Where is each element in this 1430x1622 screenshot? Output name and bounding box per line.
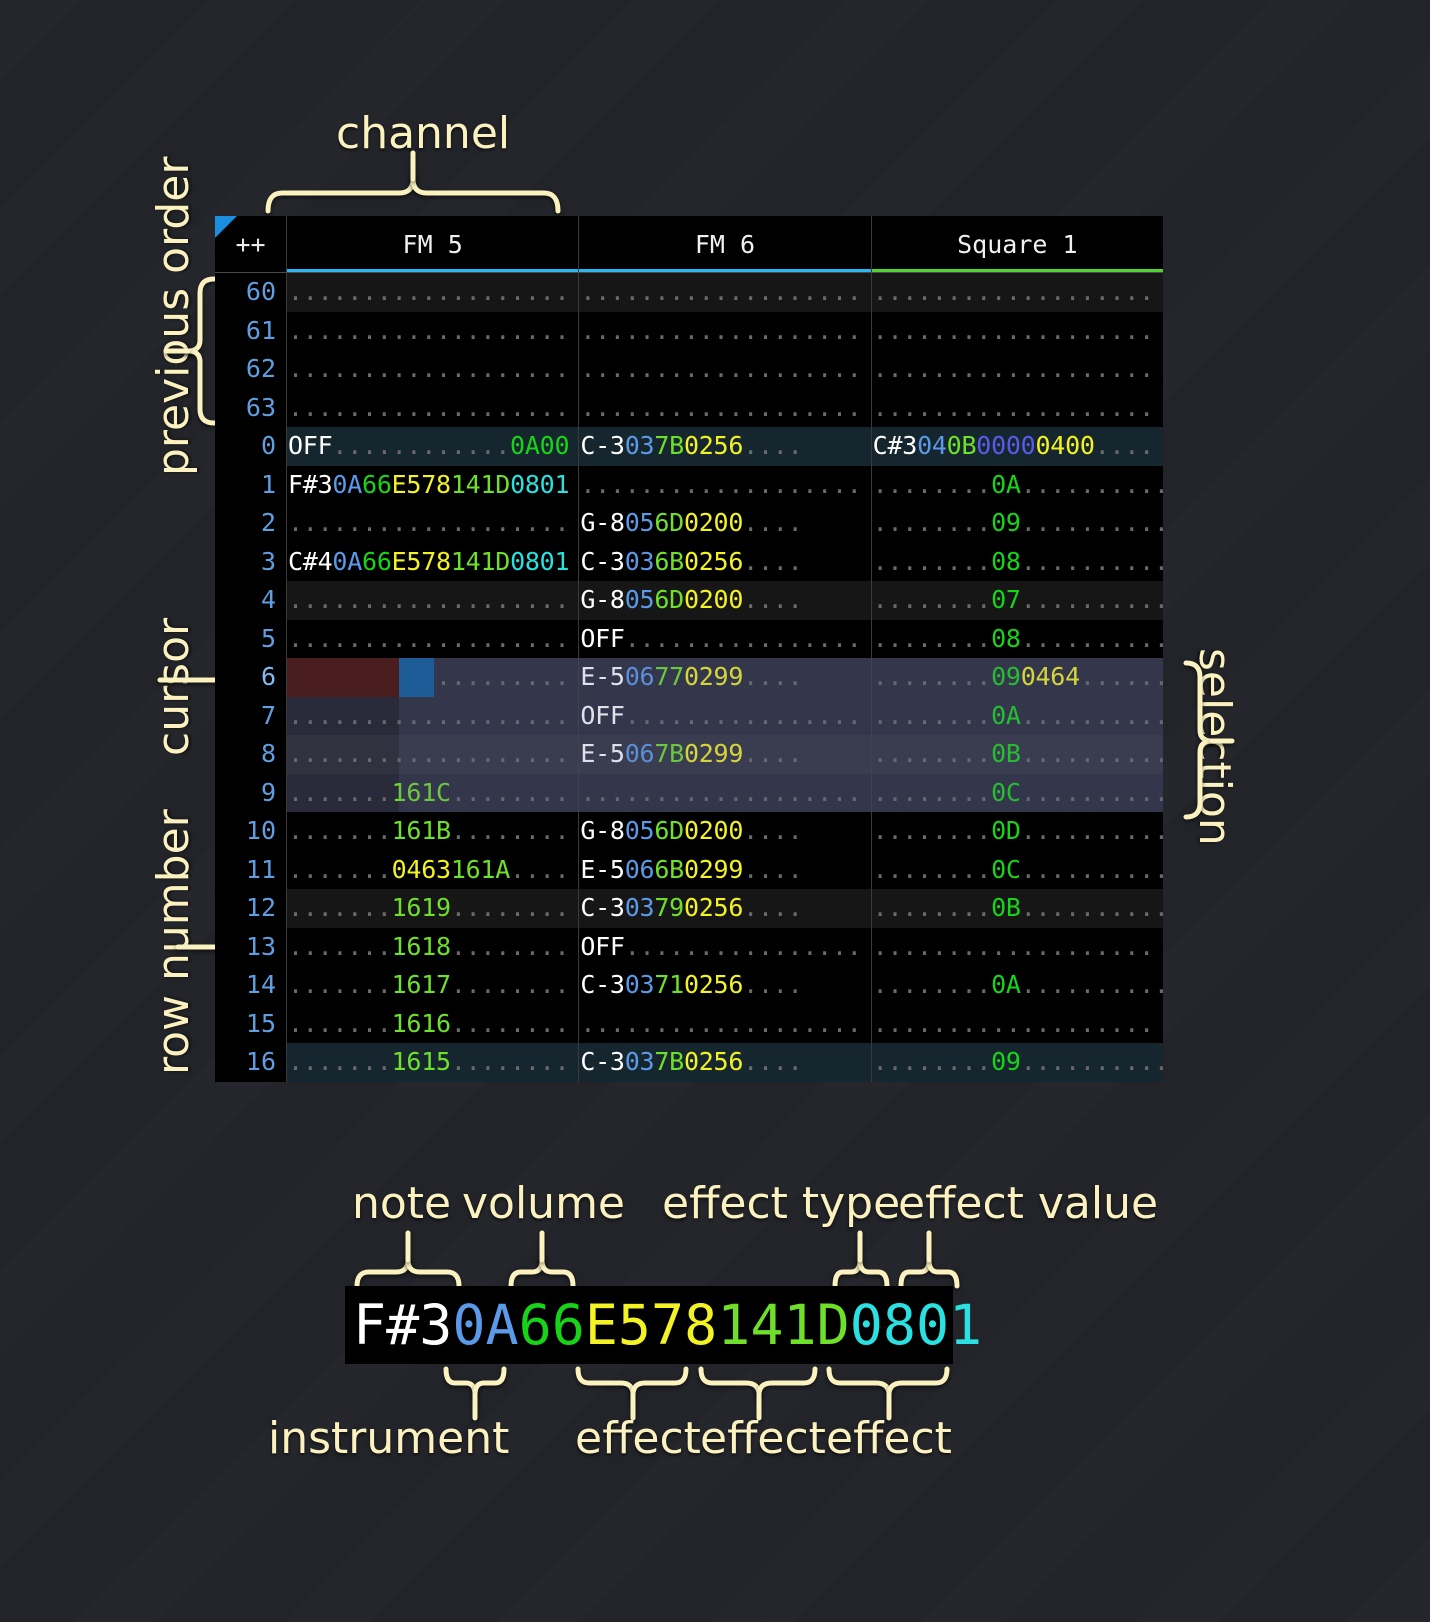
pattern-cell[interactable]: G-8056D0200.... [579,504,871,543]
pattern-row[interactable]: ........................................… [287,273,1163,312]
cell-token-dot: .. [654,701,684,730]
annotation-note: note [352,1178,451,1229]
row-number[interactable]: 7 [215,697,286,736]
cell-token-dot: .... [451,701,510,730]
pattern-cell[interactable]: E-5066B0299.... [579,851,871,890]
cell-token-dot: .... [451,277,510,306]
cell-token-dot: .... [1035,354,1094,383]
cell-token-dot: .... [510,893,569,922]
cell-token-effect_green: 7B [654,1047,684,1076]
cell-token-dot: .... [743,354,802,383]
cell-token-effect_green: 6D [654,508,684,537]
legend-segment-volume: 66 [519,1293,585,1357]
cell-token-dot: .... [510,1047,569,1076]
cell-token-note: C-3 [580,431,624,460]
pattern-row[interactable]: OFF............0A00C-3037B0256....C#3040… [287,427,1163,466]
pattern-cell[interactable]: F#30A66E578141D0801 [287,466,579,505]
pattern-row[interactable]: .......161C.............................… [287,774,1163,813]
cell-token-dot: .... [743,778,802,807]
cell-token-dot: ........ [873,1047,991,1076]
pattern-cell[interactable]: .......1619........ [287,889,579,928]
pattern-cell[interactable]: G-8056D0200.... [579,581,871,620]
pattern-cell-legend: F#30A66E578141D0801 [345,1286,953,1364]
pattern-cell[interactable]: C-3036B0256.... [579,543,871,582]
instrument-brace [443,1366,509,1414]
cell-token-dot: ........... [580,354,743,383]
channel-header-row: ++ FM 5 FM 6 Square 1 [215,216,1163,272]
cell-token-dot: ........ [873,739,991,768]
cell-token-dot: .... [451,585,510,614]
row-number-gutter[interactable]: 60616263012345678910111213141516 [215,272,286,1082]
pattern-cell[interactable]: .......0463161A.... [287,851,579,890]
cell-token-dot: .... [743,393,802,422]
row-number[interactable]: 14 [215,966,286,1005]
cell-token-dot: .... [451,662,510,691]
cell-token-volume: 0C [991,778,1021,807]
pattern-row[interactable]: ...................OFF..................… [287,620,1163,659]
channel-name: FM 5 [403,230,463,259]
cell-token-instrument: 06 [625,739,655,768]
cell-token-dot: ........ [873,624,991,653]
row-number[interactable]: 63 [215,389,286,428]
cell-token-dot: .... [510,932,569,961]
cell-token-dot: .... [510,778,569,807]
pattern-cell[interactable]: C-303710256.... [579,966,871,1005]
pattern-cell[interactable]: E-5067B0299.... [579,735,871,774]
cell-token-note: OFF [288,431,332,460]
row-number[interactable]: 61 [215,312,286,351]
cell-token-dot: ........... [873,277,1036,306]
cell-token-dot: .... [510,316,569,345]
cell-token-effect_green: 161A [451,855,510,884]
pattern-cell[interactable]: ................... [287,697,579,736]
cell-token-effect_yellow: 0200 [684,585,743,614]
cell-token-dot: ........... [873,316,1036,345]
pattern-cell[interactable]: .......161B........ [287,812,579,851]
cell-token-dot: ........... [580,316,743,345]
pattern-cell[interactable]: ........090464...... [872,658,1163,697]
order-indicator[interactable]: ++ [215,216,286,272]
row-number[interactable]: 2 [215,504,286,543]
cell-token-volume: 08 [991,624,1021,653]
pattern-cell[interactable]: ........0A........... [872,697,1163,736]
cell-token-dot: .... [510,701,569,730]
cell-token-dot: .... [510,816,569,845]
pattern-cell[interactable]: ................... [872,350,1163,389]
cell-token-volume: 09 [991,1047,1021,1076]
cell-token-volume: 0A [991,701,1021,730]
cell-token-dot: ........... [288,624,451,653]
row-number[interactable]: 6 [215,658,286,697]
cell-token-effect_yellow: E578 [392,470,451,499]
channel-name: FM 6 [695,230,755,259]
pattern-cell[interactable]: ................... [287,273,579,312]
pattern-cell[interactable]: .......161C........ [287,774,579,813]
cell-token-effect_green: 1617 [392,970,451,999]
cell-token-dot: .... [802,470,861,499]
pattern-cell[interactable]: ........0C........... [872,774,1163,813]
pattern-cell[interactable]: E-506770299.... [579,658,871,697]
pattern-cell[interactable]: OFF................ [579,697,871,736]
cell-token-note: OFF [580,701,624,730]
cell-token-dot: ....... [288,855,392,884]
cell-token-instrument: 0A [332,470,362,499]
cell-token-dot: .... [802,932,861,961]
cell-token-instrument: 03 [625,1047,655,1076]
cell-token-dot: .... [451,624,510,653]
cell-token-dot: ....... [288,1047,392,1076]
row-number[interactable]: 11 [215,851,286,890]
cell-token-dot: .... [802,393,861,422]
cell-token-effect_green: 79 [654,893,684,922]
channel-header-square1[interactable]: Square 1 [871,216,1163,272]
cell-token-dot: ........... [580,393,743,422]
pattern-cell[interactable]: ........0C........... [872,851,1163,890]
cell-token-note: E-5 [580,662,624,691]
cell-token-effect_green: 77 [654,662,684,691]
pattern-cell[interactable]: ........08........... [872,620,1163,659]
pattern-cell[interactable]: ................... [872,273,1163,312]
cell-token-note: G-8 [580,508,624,537]
cell-token-dot: .... [743,585,802,614]
cell-token-effect_cyan: 0801 [510,547,569,576]
legend-segment-effect_green: 141D [717,1293,849,1357]
cell-token-dot: .. [625,701,655,730]
cell-token-dot: .. [654,932,684,961]
cell-token-instrument: 0A [332,547,362,576]
cell-token-dot: .... [510,1009,569,1038]
cell-token-dot: .... [743,431,802,460]
cell-token-dot: .. [654,624,684,653]
cell-token-effect_green: 6D [654,816,684,845]
cell-token-volume: 0C [991,855,1021,884]
cell-token-dot: ........... [1021,624,1163,653]
cell-token-effect_yellow: 0299 [684,662,743,691]
effect1-brace [575,1366,691,1414]
legend-segment-effect_yellow: E578 [585,1293,717,1357]
cell-token-dot: .... [510,585,569,614]
cell-token-dot: ........... [580,778,743,807]
cell-token-effect_green: 1616 [392,1009,451,1038]
cell-token-dot: .... [1095,932,1154,961]
pattern-cell[interactable]: ................... [287,350,579,389]
pattern-row[interactable]: .......1617........C-303710256..........… [287,966,1163,1005]
cell-token-dot: ........ [873,470,991,499]
effect-value-brace [898,1248,962,1290]
cell-token-dot: .... [1035,277,1094,306]
row-number[interactable]: 9 [215,774,286,813]
cell-token-dot: .... [743,316,802,345]
annotation-effect-type: effect type [662,1178,900,1229]
pattern-cell[interactable]: ................... [579,466,871,505]
cell-token-dot: ........... [1021,778,1163,807]
channel-header-fm6[interactable]: FM 6 [578,216,870,272]
cell-token-instrument: 04 [917,431,947,460]
cell-token-dot: ....... [288,778,392,807]
cell-token-volume: 07 [991,585,1021,614]
pattern-row[interactable]: .......1618........OFF..................… [287,928,1163,967]
cell-token-dot: ...... [1080,662,1163,691]
pattern-grid[interactable]: 60616263012345678910111213141516 .......… [215,272,1163,1082]
cell-token-note: G-8 [580,585,624,614]
cursor-cell[interactable] [399,658,434,697]
cell-token-instrument: 05 [625,508,655,537]
cell-token-volume: 0B [991,739,1021,768]
pattern-row[interactable]: ...................G-8056D0200..........… [287,581,1163,620]
pattern-cell[interactable]: ................... [872,389,1163,428]
pattern-cell[interactable]: ................... [579,350,871,389]
cell-token-dot: .... [802,277,861,306]
cell-token-effect_yellow: 0256 [684,970,743,999]
annotation-instrument: instrument [268,1413,509,1464]
channel-header-fm5[interactable]: FM 5 [286,216,578,272]
pattern-cell[interactable]: ................... [287,389,579,428]
cell-token-dot: ........... [288,277,451,306]
cell-token-volume: 0D [991,816,1021,845]
cell-token-dot: ........ [684,701,802,730]
cell-token-dot: ........... [873,932,1036,961]
row-number[interactable]: 16 [215,1043,286,1082]
cell-token-dot: ........... [580,470,743,499]
annotation-row-number: row number [148,809,199,1075]
legend-segment-instrument: 0A [452,1293,518,1357]
cell-token-note: C-3 [580,1047,624,1076]
cell-token-dot: .... [743,816,802,845]
row-number[interactable]: 13 [215,928,286,967]
pattern-row[interactable]: .......161B........G-8056D0200..........… [287,812,1163,851]
cell-token-dot: .... [743,893,802,922]
row-number[interactable]: 60 [215,273,286,312]
pattern-row[interactable]: .......1615........C-3037B0256..........… [287,1043,1163,1082]
pattern-cell[interactable]: C#3040B00000400.... [872,427,1163,466]
row-number[interactable]: 3 [215,543,286,582]
volume-brace [508,1248,578,1290]
cell-token-dot: ........... [873,354,1036,383]
pattern-row[interactable]: ...................E-5067B0299..........… [287,735,1163,774]
cell-token-dot: .... [510,277,569,306]
row-number[interactable]: 4 [215,581,286,620]
pattern-cell[interactable]: ................... [872,1005,1163,1044]
cell-token-dot: ....... [288,1009,392,1038]
cell-token-dot: .... [510,354,569,383]
cell-token-effect_yellow: 0256 [684,431,743,460]
cell-token-effect_green: 6D [654,585,684,614]
order-label: ++ [235,230,265,259]
pattern-cell[interactable]: ........0D........... [872,812,1163,851]
cell-token-dot: .... [451,932,510,961]
row-number[interactable]: 1 [215,466,286,505]
cell-token-note: F#3 [288,470,332,499]
cursor-row-highlight [287,658,399,697]
cell-token-volume: 0A [991,470,1021,499]
cell-token-effect_yellow: 0256 [684,1047,743,1076]
cell-token-dot: .... [510,393,569,422]
cell-token-instrument: 05 [625,816,655,845]
row-number[interactable]: 12 [215,889,286,928]
cell-token-dot: .... [802,354,861,383]
cell-token-effect_green: 141D [451,547,510,576]
cell-token-volume: 0A00 [510,431,569,460]
cell-token-dot: .... [451,393,510,422]
cell-token-instrument: 03 [625,547,655,576]
cell-token-dot: .... [743,1009,802,1038]
legend-segment-effect_cyan: 0801 [850,1293,982,1357]
cell-token-dot: .... [1035,932,1094,961]
cell-token-effect_yellow: 0299 [684,739,743,768]
pattern-cell[interactable]: .......1618........ [287,928,579,967]
cell-token-effect_green: 1618 [392,932,451,961]
pattern-cell[interactable]: ........0B........... [872,735,1163,774]
pattern-cell[interactable]: ........09........... [872,504,1163,543]
cell-token-dot: .. [625,624,655,653]
pattern-cell[interactable]: C-3037B0256.... [579,427,871,466]
pattern-cell[interactable]: C-303790256.... [579,889,871,928]
cell-token-effect_green: 141D [451,470,510,499]
cell-token-dot: ....... [288,816,392,845]
cell-token-effect_green: 7B [654,739,684,768]
cell-token-note: OFF [580,624,624,653]
pattern-cell[interactable]: ................... [579,389,871,428]
cell-token-dot: ........ [873,701,991,730]
cell-token-effect_yellow: 0463 [392,855,451,884]
pattern-row[interactable]: .......1616.............................… [287,1005,1163,1044]
pattern-cell[interactable]: ........09........... [872,1043,1163,1082]
row-number[interactable]: 10 [215,812,286,851]
cell-token-dot: ....... [288,932,392,961]
pattern-cell[interactable]: ................... [579,774,871,813]
pattern-row[interactable]: C#40A66E578141D0801C-3036B0256..........… [287,543,1163,582]
cell-token-dot: .... [510,662,569,691]
cell-token-dot: .... [1095,431,1154,460]
cell-token-note: C-3 [580,970,624,999]
row-number[interactable]: 8 [215,735,286,774]
row-number[interactable]: 15 [215,1005,286,1044]
cell-token-volume: 66 [362,547,392,576]
cell-token-note: C#3 [873,431,917,460]
cell-token-dot: ........... [580,277,743,306]
cell-token-dot: .... [743,970,802,999]
pattern-cell[interactable]: ................... [287,312,579,351]
pattern-cell[interactable]: ................... [579,1005,871,1044]
pattern-row[interactable]: ........................................… [287,312,1163,351]
pattern-cell[interactable]: OFF................ [579,620,871,659]
cell-token-dot: ........... [1021,970,1163,999]
pattern-editor[interactable]: ++ FM 5 FM 6 Square 1 606162630123456789… [215,216,1163,1082]
cell-token-dot: ........ [873,662,991,691]
pattern-cell[interactable]: C-3037B0256.... [579,1043,871,1082]
pattern-cell[interactable]: .......1617........ [287,966,579,1005]
cell-token-dot: .. [332,431,362,460]
pattern-cell[interactable]: OFF............0A00 [287,427,579,466]
pattern-cell[interactable]: ................... [579,312,871,351]
cell-token-dot: ........... [873,393,1036,422]
cell-token-note: C-3 [580,547,624,576]
corner-triangle-icon [215,216,237,238]
cell-token-dot: .... [451,893,510,922]
pattern-cell[interactable]: .......1615........ [287,1043,579,1082]
cell-token-volume: 09 [991,662,1021,691]
cell-token-effect_yellow: 0256 [684,893,743,922]
row-number[interactable]: 5 [215,620,286,659]
cell-token-note: E-5 [580,739,624,768]
cell-token-dot: ........... [580,1009,743,1038]
pattern-row[interactable]: ........................................… [287,350,1163,389]
pattern-cell[interactable]: ........0B........... [872,889,1163,928]
note-brace [354,1248,464,1290]
cell-token-dot: .. [625,932,655,961]
annotation-volume: volume [462,1178,625,1229]
pattern-cell[interactable]: ........0A........... [872,466,1163,505]
pattern-cell[interactable]: ................... [287,620,579,659]
pattern-cells[interactable]: ........................................… [286,272,1163,1082]
pattern-cell[interactable]: C#40A66E578141D0801 [287,543,579,582]
pattern-cell[interactable]: ........08........... [872,543,1163,582]
pattern-cell[interactable]: ................... [872,312,1163,351]
cell-token-dot: ........... [288,508,451,537]
pattern-cell[interactable]: .......1616........ [287,1005,579,1044]
pattern-row[interactable]: ...................OFF..................… [287,697,1163,736]
pattern-cell[interactable]: ........07........... [872,581,1163,620]
cell-token-dot: ........... [1021,893,1163,922]
cell-token-dot: .... [510,624,569,653]
cell-token-dot: .... [743,662,802,691]
cell-token-effect_yellow: 0200 [684,508,743,537]
pattern-cell[interactable]: ................... [287,581,579,620]
effect2-brace [698,1366,820,1414]
pattern-cell[interactable]: ................... [872,928,1163,967]
cell-token-dot: ........... [1021,547,1163,576]
pattern-cell[interactable]: ................... [579,273,871,312]
cell-token-dot: .... [802,624,861,653]
annotation-effect-2: effect [700,1413,826,1464]
cell-token-dot: .... [451,778,510,807]
cell-token-dot: .... [802,701,861,730]
cell-token-dot: ........ [873,816,991,845]
pattern-cell[interactable]: G-8056D0200.... [579,812,871,851]
row-number[interactable]: 0 [215,427,286,466]
cell-token-dot: .... [1095,1009,1154,1038]
cell-token-dot: .... [802,778,861,807]
pattern-row[interactable]: ........................................… [287,389,1163,428]
pattern-cell[interactable]: ........0A........... [872,966,1163,1005]
annotation-channel: channel [336,108,510,159]
cell-token-dot: ........... [1021,1047,1163,1076]
cell-token-dot: .... [510,970,569,999]
pattern-row[interactable]: .......1619........C-303790256..........… [287,889,1163,928]
effect3-brace [826,1366,952,1414]
row-number[interactable]: 62 [215,350,286,389]
cell-token-effect_green: 1619 [392,893,451,922]
pattern-cell[interactable]: OFF................ [579,928,871,967]
pattern-cell[interactable]: ................... [287,504,579,543]
cell-token-dot: ........ [392,431,510,460]
pattern-row[interactable]: F#30A66E578141D0801.....................… [287,466,1163,505]
cell-token-effect_green: 6B [654,855,684,884]
cell-token-effect_blue: 0000 [976,431,1035,460]
cell-token-effect_green: 71 [654,970,684,999]
cell-token-dot: .... [510,855,569,884]
cell-token-effect_green: 0B [947,431,977,460]
pattern-cell[interactable]: ................... [287,735,579,774]
cell-token-effect_cyan: 0801 [510,470,569,499]
cell-token-dot: .... [451,354,510,383]
channel-name: Square 1 [957,230,1077,259]
pattern-row[interactable]: ...................G-8056D0200..........… [287,504,1163,543]
pattern-row[interactable]: .......0463161A....E-5066B0299..........… [287,851,1163,890]
cell-token-volume: 0A [991,970,1021,999]
cell-token-dot: ........ [873,585,991,614]
cell-token-dot: .... [451,316,510,345]
